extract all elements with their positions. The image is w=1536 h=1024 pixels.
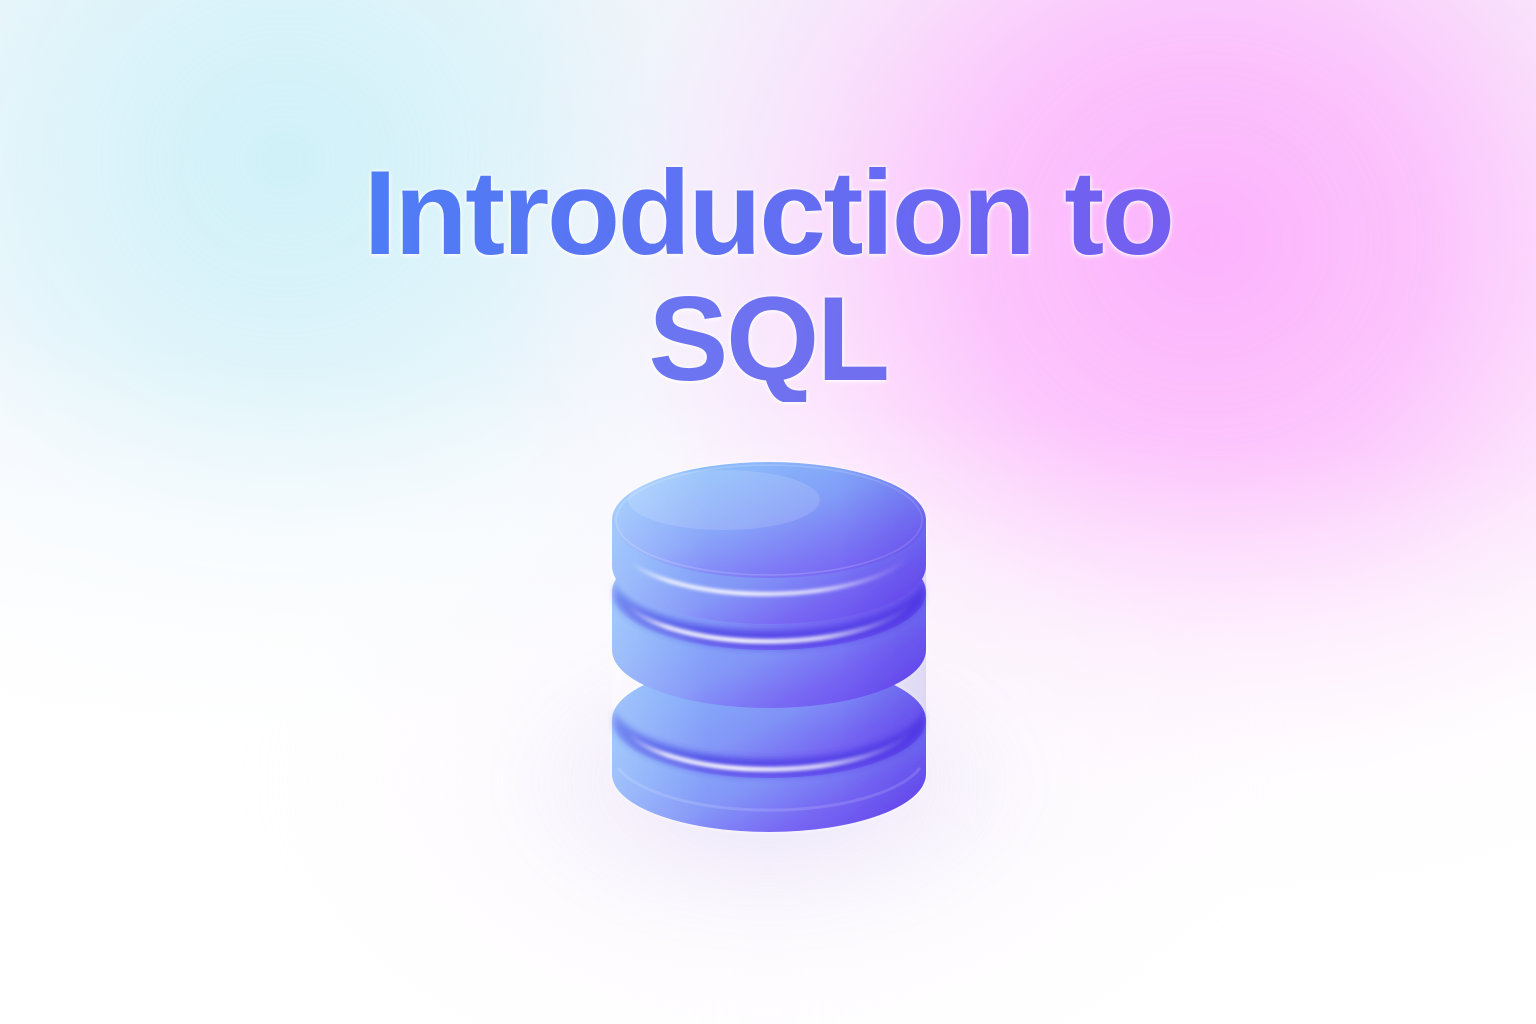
database-cylinder-illustration bbox=[612, 462, 926, 860]
title-line-primary: Introduction to bbox=[0, 150, 1536, 276]
database-icon bbox=[612, 462, 926, 860]
slide-canvas: Introduction to SQL bbox=[0, 0, 1536, 1024]
page-title: Introduction to SQL bbox=[0, 150, 1536, 402]
db-right-shading bbox=[612, 462, 926, 832]
title-line-secondary: SQL bbox=[0, 276, 1536, 402]
